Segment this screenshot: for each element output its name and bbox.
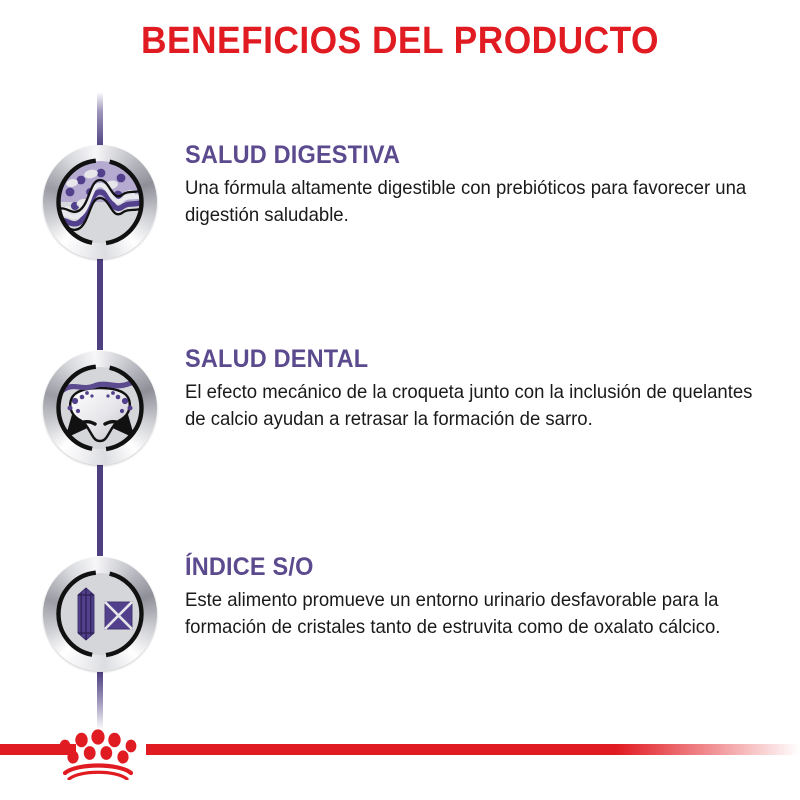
so-index-crystals-icon-art <box>50 564 150 664</box>
dental-health-icon-art <box>50 358 150 458</box>
benefit-heading: SALUD DIGESTIVA <box>185 141 749 170</box>
benefits-timeline <box>0 0 200 740</box>
digestive-health-icon-art <box>50 152 150 252</box>
benefit-body: Una fórmula altamente digestible con pre… <box>185 175 774 229</box>
benefit-heading: ÍNDICE S/O <box>185 553 749 582</box>
timeline-connector-2 <box>97 464 103 556</box>
so-index-crystals-icon <box>43 557 157 671</box>
timeline-connector-1 <box>97 258 103 350</box>
benefit-item-so-index: ÍNDICE S/O Este alimento promueve un ent… <box>185 553 785 641</box>
benefit-item-dental: SALUD DENTAL El efecto mecánico de la cr… <box>185 345 785 433</box>
royal-canin-crown-logo <box>52 728 144 780</box>
digestive-health-icon <box>43 145 157 259</box>
timeline-connector-top <box>97 92 103 148</box>
benefit-body: Este alimento promueve un entorno urinar… <box>185 587 774 641</box>
footer-rule-right <box>146 744 800 755</box>
footer <box>0 710 800 800</box>
benefit-body: El efecto mecánico de la croqueta junto … <box>185 379 774 433</box>
benefit-heading: SALUD DENTAL <box>185 345 749 374</box>
benefit-item-digestive: SALUD DIGESTIVA Una fórmula altamente di… <box>185 141 785 229</box>
dental-health-icon <box>43 351 157 465</box>
